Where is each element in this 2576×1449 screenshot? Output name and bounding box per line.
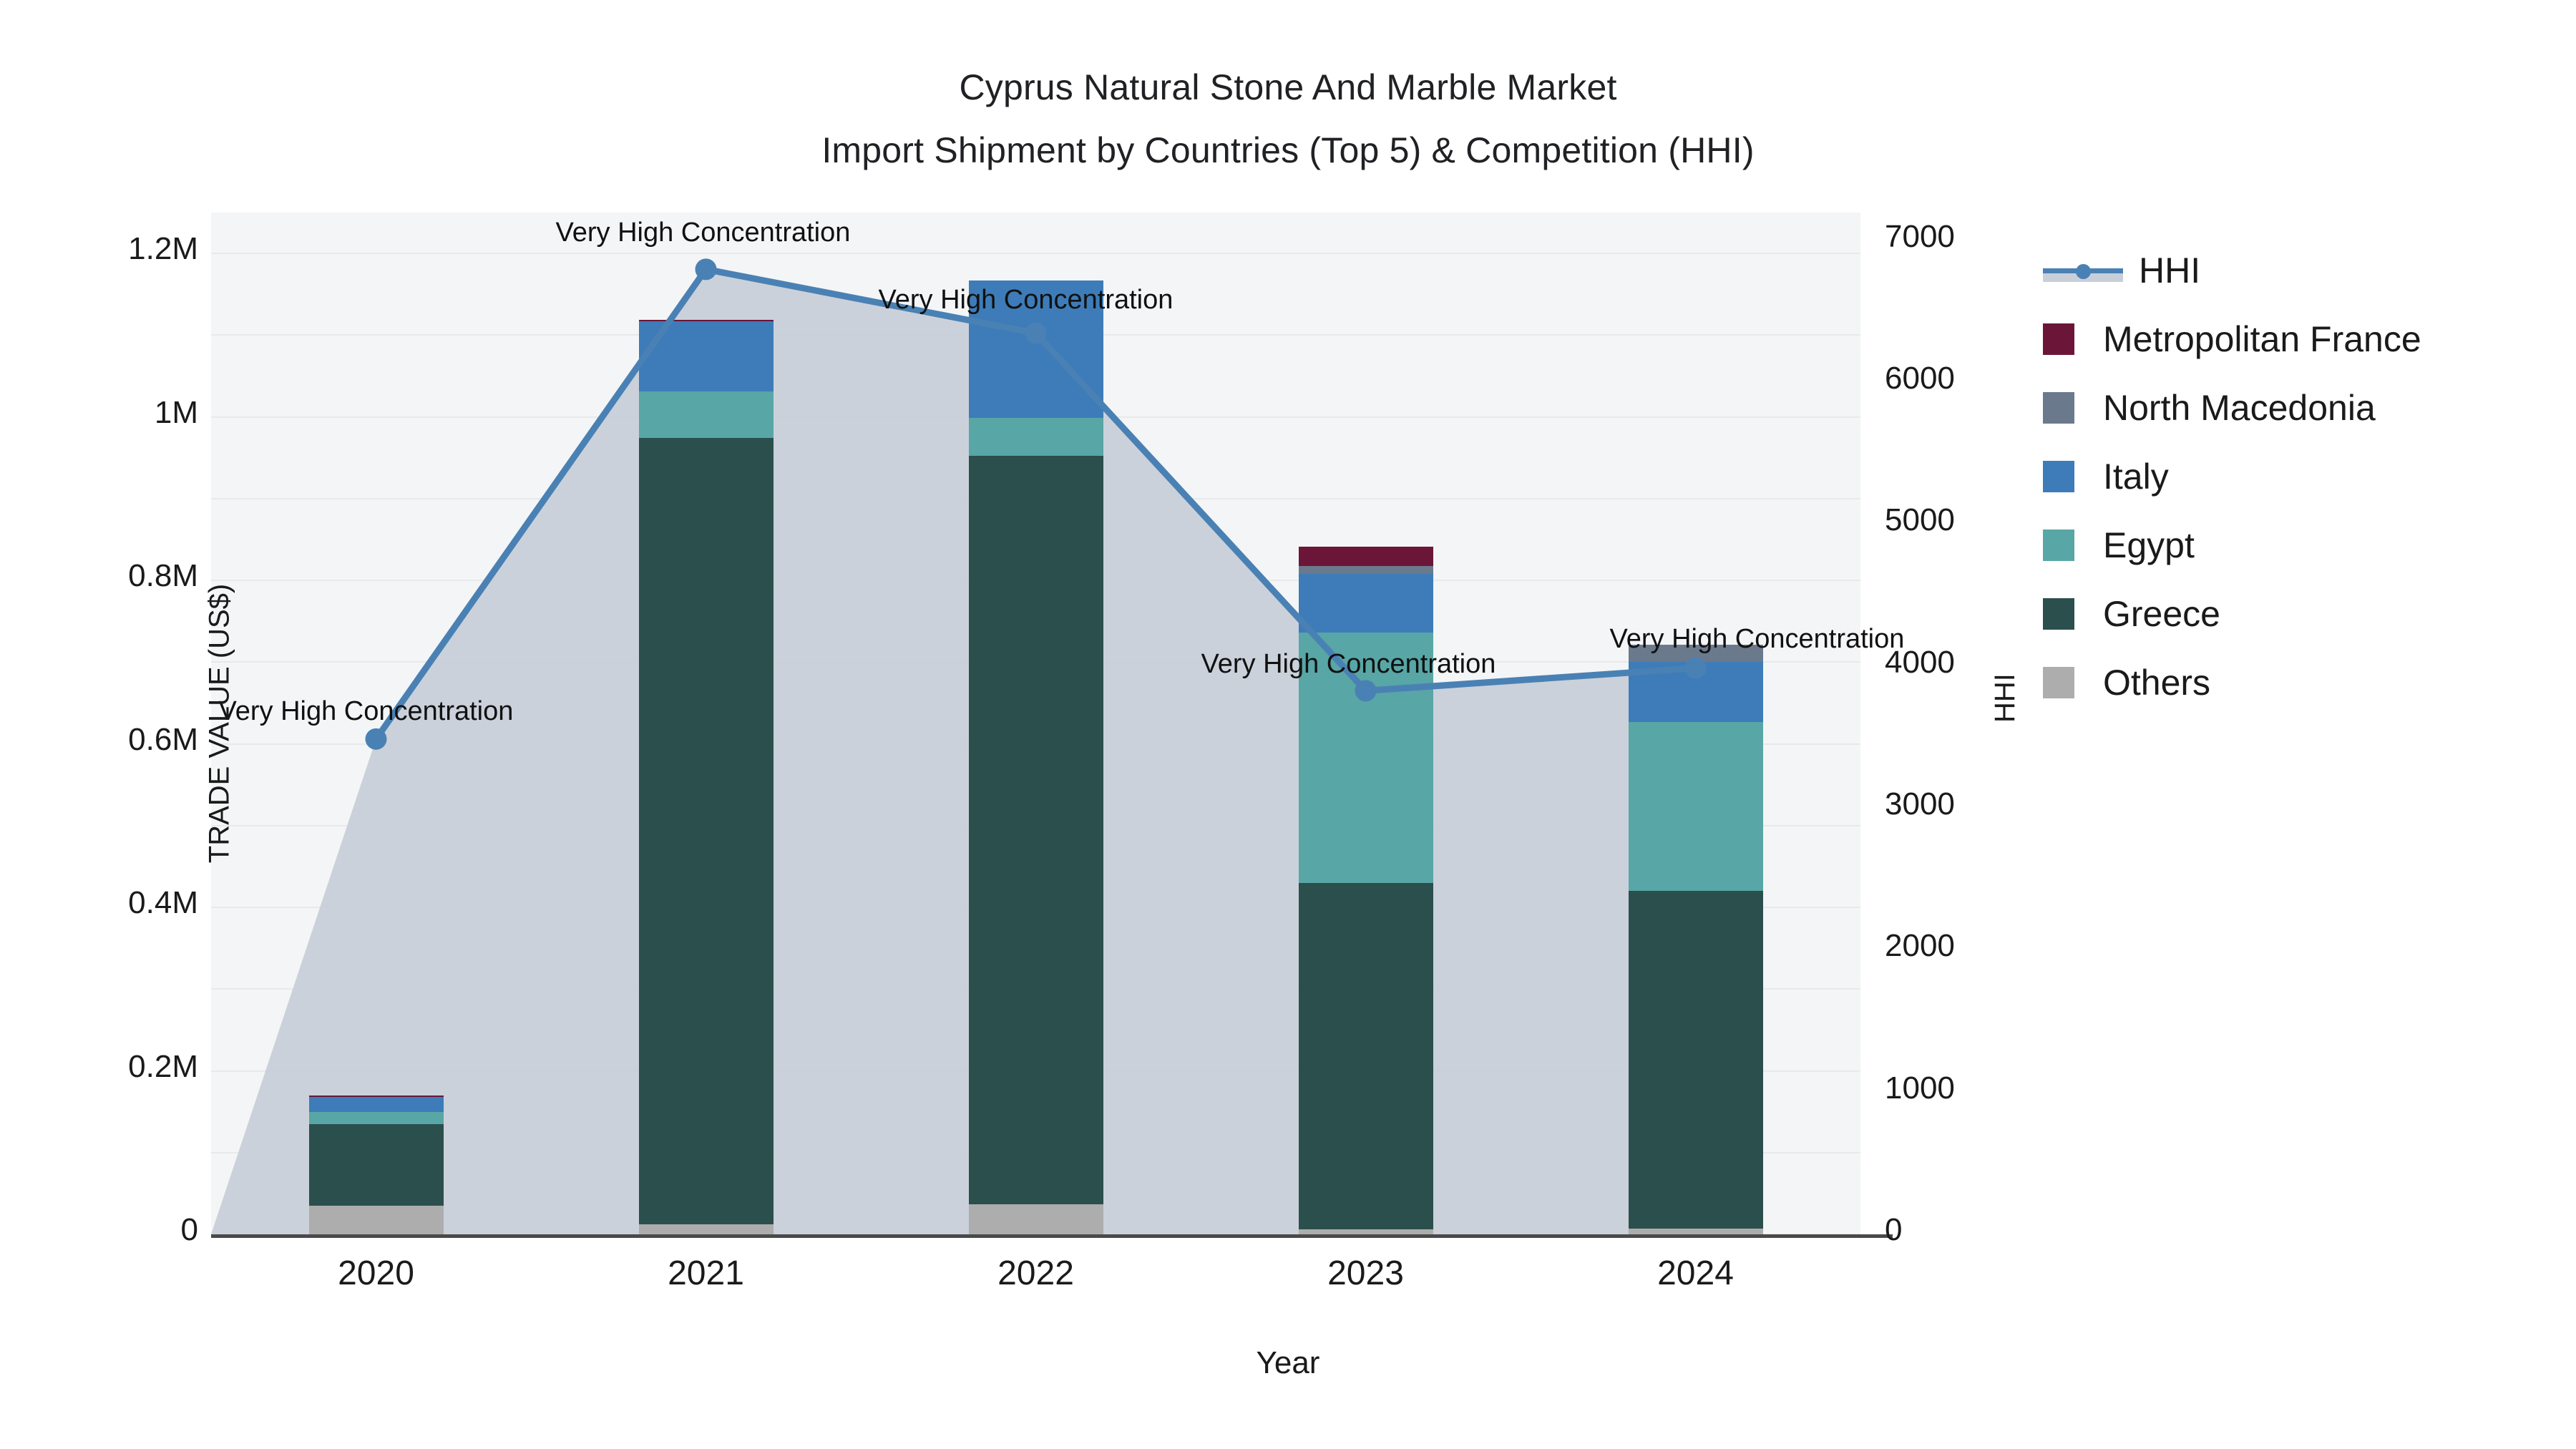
legend-item-label: Metropolitan France	[2103, 318, 2421, 360]
hhi-marker[interactable]	[1685, 658, 1707, 679]
legend-item-label: North Macedonia	[2103, 387, 2376, 429]
legend-item-label: Egypt	[2103, 525, 2195, 566]
y-axis-left-tick-label: 1M	[26, 395, 198, 431]
legend-item-italy[interactable]: Italy	[2043, 442, 2421, 511]
annotation-label: Very High Concentration	[1201, 649, 1496, 680]
x-axis-label: Year	[0, 1345, 2576, 1381]
chart-title-line-2: Import Shipment by Countries (Top 5) & C…	[0, 119, 2576, 182]
legend-item-metropolitan-france[interactable]: Metropolitan France	[2043, 305, 2421, 374]
legend-swatch-icon	[2043, 598, 2074, 630]
y-axis-left-tick-label: 1.2M	[26, 231, 198, 267]
legend-item-greece[interactable]: Greece	[2043, 580, 2421, 648]
y-axis-right-tick-label: 2000	[1885, 928, 2071, 964]
annotation-label: Very High Concentration	[556, 218, 851, 248]
x-axis-line	[211, 1234, 1893, 1238]
legend-item-egypt[interactable]: Egypt	[2043, 511, 2421, 580]
legend-item-label: HHI	[2139, 250, 2200, 291]
x-axis-tick-label: 2024	[1589, 1254, 1803, 1293]
hhi-marker[interactable]	[696, 258, 717, 280]
x-axis-tick-label: 2021	[599, 1254, 814, 1293]
hhi-marker[interactable]	[1355, 680, 1377, 701]
y-axis-right-tick-label: 1000	[1885, 1070, 2071, 1106]
hhi-marker[interactable]	[366, 728, 387, 750]
annotation-label: Very High Concentration	[1610, 624, 1905, 655]
annotation-label: Very High Concentration	[879, 285, 1174, 316]
legend-swatch-icon	[2043, 461, 2074, 492]
legend-item-hhi[interactable]: HHI	[2043, 236, 2421, 305]
y-axis-left-tick-label: 0.8M	[26, 558, 198, 594]
y-axis-right-tick-label: 0	[1885, 1212, 2071, 1248]
legend-item-others[interactable]: Others	[2043, 648, 2421, 717]
y-axis-left-tick-label: 0	[26, 1212, 198, 1248]
hhi-line-icon	[2043, 255, 2123, 286]
legend-item-label: Italy	[2103, 456, 2169, 497]
legend-swatch-icon	[2043, 392, 2074, 424]
y-axis-right-tick-label: 3000	[1885, 786, 2071, 822]
y-axis-left-tick-label: 0.6M	[26, 722, 198, 758]
hhi-marker[interactable]	[1025, 323, 1047, 344]
x-axis-tick-label: 2023	[1259, 1254, 1473, 1293]
y-axis-left-tick-label: 0.4M	[26, 885, 198, 921]
legend-swatch-icon	[2043, 667, 2074, 698]
y-axis-left-tick-label: 0.2M	[26, 1049, 198, 1085]
annotation-label: Very High Concentration	[219, 696, 514, 727]
legend-swatch-icon	[2043, 530, 2074, 561]
chart-title: Cyprus Natural Stone And Marble Market I…	[0, 56, 2576, 182]
legend-swatch-icon	[2043, 323, 2074, 355]
chart-legend: HHIMetropolitan FranceNorth MacedoniaIta…	[2043, 236, 2421, 717]
chart-title-line-1: Cyprus Natural Stone And Marble Market	[0, 56, 2576, 119]
legend-item-label: Others	[2103, 662, 2210, 703]
legend-item-label: Greece	[2103, 593, 2220, 635]
legend-item-north-macedonia[interactable]: North Macedonia	[2043, 374, 2421, 442]
y-axis-right-label: HHI	[1989, 673, 2021, 723]
x-axis-tick-label: 2020	[269, 1254, 484, 1293]
x-axis-tick-label: 2022	[929, 1254, 1143, 1293]
hhi-dot-icon	[2076, 264, 2091, 279]
chart-canvas: Cyprus Natural Stone And Marble Market I…	[0, 0, 2576, 1449]
